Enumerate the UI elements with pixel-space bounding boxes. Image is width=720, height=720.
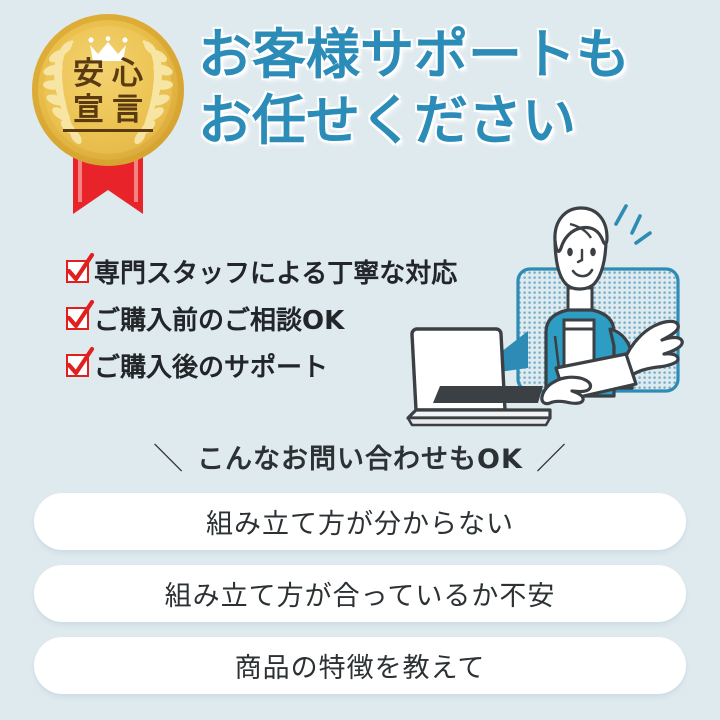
list-item[interactable]: 商品の特徴を教えて <box>34 637 686 694</box>
pill-label: 商品の特徴を教えて <box>235 646 486 685</box>
list-item[interactable]: 組み立て方が合っているか不安 <box>34 565 686 622</box>
pill-label: 組み立て方が合っているか不安 <box>165 574 556 613</box>
checklist-label: ご購入前のご相談OK <box>94 300 344 337</box>
subhead-text: こんなお問い合わせもOK <box>197 444 523 475</box>
slash-right-decoration: ／ <box>536 434 567 478</box>
support-staff-with-laptop-illustration <box>378 196 708 428</box>
faq-pill-list: 組み立て方が分からない 組み立て方が合っているか不安 商品の特徴を教えて <box>34 493 686 709</box>
badge-line-1: 安心 <box>32 58 184 91</box>
subhead: ＼こんなお問い合わせもOK／ <box>0 433 720 477</box>
checkbox-checked-icon <box>66 354 89 377</box>
headline-line-2: お任せください <box>198 88 708 154</box>
list-item[interactable]: 組み立て方が分からない <box>34 493 686 550</box>
promo-banner: 安心 宣言 お客様サポートも お任せください 専門スタッフによる丁寧な対応 <box>0 0 720 720</box>
checkbox-checked-icon <box>66 307 89 330</box>
checklist-label: ご購入後のサポート <box>94 347 328 384</box>
sparkle-lines <box>616 206 650 243</box>
pill-label: 組み立て方が分からない <box>206 502 514 541</box>
badge-line-2: 宣言 <box>63 93 153 132</box>
anshin-sengen-badge: 安心 宣言 <box>24 14 192 214</box>
badge-text: 安心 宣言 <box>32 58 184 132</box>
headline-line-1: お客様サポートも <box>198 22 708 88</box>
page-title: お客様サポートも お任せください <box>198 22 708 154</box>
medal-disc: 安心 宣言 <box>32 14 184 166</box>
slash-left-decoration: ＼ <box>153 434 184 478</box>
checkbox-checked-icon <box>66 260 89 283</box>
